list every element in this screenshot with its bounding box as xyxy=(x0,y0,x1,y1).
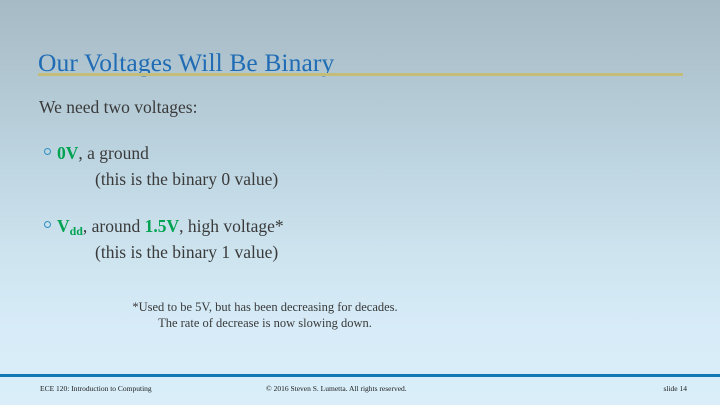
bullet-item-vdd: Vdd, around 1.5V, high voltage* (this is… xyxy=(44,216,284,263)
highlight-vdd: Vdd xyxy=(57,216,83,236)
bullet-rest-b: , high voltage* xyxy=(179,216,284,236)
bullet-text: Vdd, around 1.5V, high voltage* xyxy=(57,216,284,237)
footer-divider xyxy=(0,374,720,377)
highlight-15v: 1.5V xyxy=(145,216,180,236)
footer-slide-number: slide 14 xyxy=(663,384,687,393)
bullet-sub-line: (this is the binary 0 value) xyxy=(95,169,278,190)
bullet-line: 0V, a ground xyxy=(44,143,278,164)
footer-course-label: ECE 120: Introduction to Computing xyxy=(40,384,152,393)
bullet-rest: , a ground xyxy=(78,143,148,163)
footnote-line-1: *Used to be 5V, but has been decreasing … xyxy=(40,299,490,315)
bullet-text: 0V, a ground xyxy=(57,143,149,164)
hollow-circle-bullet-icon xyxy=(44,148,51,155)
footnote-line-2: The rate of decrease is now slowing down… xyxy=(40,315,490,331)
presentation-slide: Our Voltages Will Be Binary We need two … xyxy=(0,0,720,405)
bullet-sub-line: (this is the binary 1 value) xyxy=(95,242,284,263)
bullet-line: Vdd, around 1.5V, high voltage* xyxy=(44,216,284,237)
bullet-rest-a: , around xyxy=(83,216,145,236)
footnote: *Used to be 5V, but has been decreasing … xyxy=(40,299,490,332)
hollow-circle-bullet-icon xyxy=(44,221,51,228)
slide-body: We need two voltages: 0V, a ground (this… xyxy=(0,0,720,405)
highlight-0v: 0V xyxy=(57,143,78,163)
bullet-item-0v: 0V, a ground (this is the binary 0 value… xyxy=(44,143,278,190)
lead-text: We need two voltages: xyxy=(39,97,197,118)
slide-footer: ECE 120: Introduction to Computing © 201… xyxy=(0,384,720,398)
highlight-vdd-subscript: dd xyxy=(70,224,83,238)
highlight-vdd-base: V xyxy=(57,216,70,236)
footer-copyright-label: © 2016 Steven S. Lumetta. All rights res… xyxy=(266,384,407,393)
